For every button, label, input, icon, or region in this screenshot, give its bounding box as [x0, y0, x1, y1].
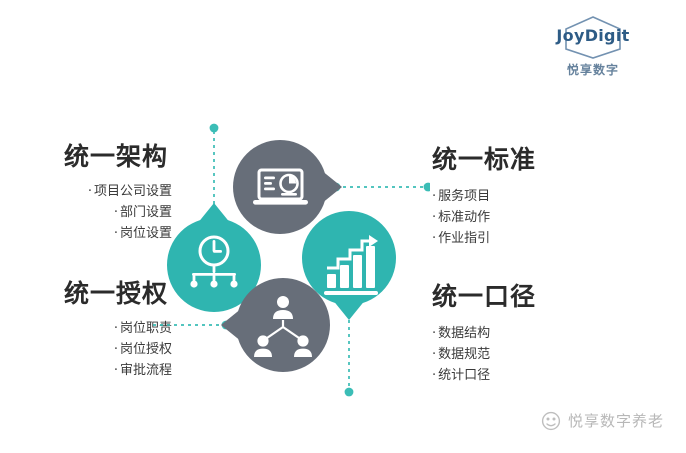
logo-mark: JoyDigit [538, 14, 648, 60]
bullet-item: ·数据规范 [432, 344, 602, 365]
bullet-label: 服务项目 [438, 189, 490, 204]
bullet-marker: · [432, 326, 436, 341]
bullet-item: ·作业指引 [432, 228, 602, 249]
block-unified-standard: 统一标准 ·服务项目 ·标准动作 ·作业指引 [432, 146, 602, 249]
bullet-marker: · [432, 231, 436, 246]
bullet-marker: · [88, 184, 92, 199]
bullet-marker: · [432, 347, 436, 362]
slide-canvas: JoyDigit 悦享数字 统一架构 ·项目公司设置 ·部门设置 ·岗位设置 统… [0, 0, 686, 453]
bullet-marker: · [432, 210, 436, 225]
bullet-label: 数据结构 [438, 326, 490, 341]
bullet-item: ·统计口径 [432, 365, 602, 386]
bullet-marker: · [114, 205, 118, 220]
block-title: 统一口径 [432, 283, 602, 311]
bullet-label: 统计口径 [438, 368, 490, 383]
logo-chinese-name: 悦享数字 [538, 61, 648, 78]
bullet-marker: · [114, 226, 118, 241]
block-bullets: ·数据结构 ·数据规范 ·统计口径 [432, 323, 602, 386]
bullet-item: ·数据结构 [432, 323, 602, 344]
bullet-label: 数据规范 [438, 347, 490, 362]
bullet-label: 作业指引 [438, 231, 490, 246]
bullet-marker: · [114, 363, 118, 378]
bullet-marker: · [114, 321, 118, 336]
bullet-marker: · [114, 342, 118, 357]
pinwheel-diagram [150, 110, 430, 400]
bullet-item: ·服务项目 [432, 186, 602, 207]
bullet-item: ·标准动作 [432, 207, 602, 228]
block-title: 统一标准 [432, 146, 602, 174]
diagram-svg [150, 110, 430, 400]
bullet-marker: · [432, 368, 436, 383]
logo-wordmark: JoyDigit [538, 26, 648, 45]
circular-logo-icon [541, 411, 561, 431]
bullet-marker: · [432, 189, 436, 204]
bullet-label: 标准动作 [438, 210, 490, 225]
block-bullets: ·服务项目 ·标准动作 ·作业指引 [432, 186, 602, 249]
block-unified-caliber: 统一口径 ·数据结构 ·数据规范 ·统计口径 [432, 283, 602, 386]
watermark: 悦享数字养老 [541, 410, 664, 431]
brand-logo: JoyDigit 悦享数字 [538, 14, 648, 78]
watermark-label: 悦享数字养老 [568, 410, 664, 431]
